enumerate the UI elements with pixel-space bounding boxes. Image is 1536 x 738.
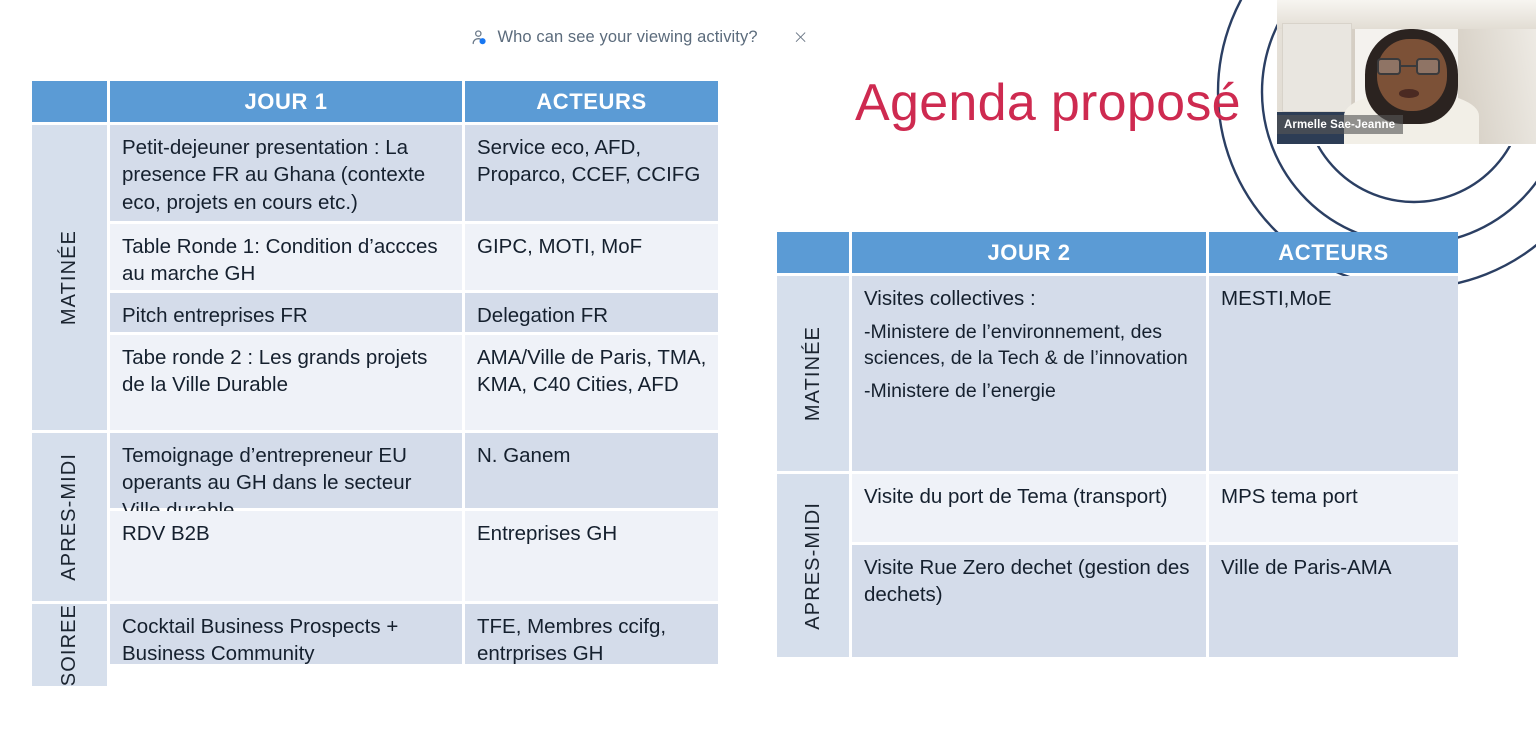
table-row: Cocktail Business Prospects + Business C… — [110, 604, 718, 664]
daypart-label: MATINÉE — [777, 276, 849, 471]
cell-activity: Temoignage d’entrepreneur EU operants au… — [110, 433, 462, 508]
glasses-left-lens — [1377, 58, 1402, 75]
table-header-jour 1: JOUR 1 — [110, 81, 462, 122]
daypart-label: APRES-MIDI — [777, 474, 849, 657]
table-row: Visite du port de Tema (transport)MPS te… — [852, 474, 1458, 542]
viewing-activity-notification: Who can see your viewing activity? × — [0, 0, 1280, 74]
table-row: Tabe ronde 2 : Les grands projets de la … — [110, 335, 718, 430]
agenda-table-jour2: JOUR 2ACTEURSMATINÉEVisites collectives … — [777, 232, 1458, 660]
activity-text: RDV B2B — [122, 520, 451, 547]
cell-activity: Visite Rue Zero dechet (gestion des dech… — [852, 545, 1206, 657]
table-row: Temoignage d’entrepreneur EU operants au… — [110, 433, 718, 508]
cell-activity: Petit-dejeuner presentation : La presenc… — [110, 125, 462, 221]
glasses-right-lens — [1416, 58, 1441, 75]
daypart-label: APRES-MIDI — [32, 433, 107, 601]
table-header-row: JOUR 1ACTEURS — [32, 81, 718, 122]
cell-actors: N. Ganem — [465, 433, 718, 508]
cell-actors: Delegation FR — [465, 293, 718, 332]
table-header-acteurs: ACTEURS — [1209, 232, 1458, 273]
activity-text: Table Ronde 1: Condition d’accces au mar… — [122, 233, 451, 288]
cell-actors: MPS tema port — [1209, 474, 1458, 542]
cell-actors: TFE, Membres ccifg, entrprises GH — [465, 604, 718, 664]
table-row: Visites collectives :-Ministere de l’env… — [852, 276, 1458, 471]
actors-text: N. Ganem — [477, 442, 707, 469]
activity-text: Cocktail Business Prospects + Business C… — [122, 613, 451, 668]
cell-activity: Table Ronde 1: Condition d’accces au mar… — [110, 224, 462, 290]
person-privacy-icon — [471, 29, 488, 46]
actors-text: GIPC, MOTI, MoF — [477, 233, 707, 260]
activity-subline: -Ministere de l’environnement, des scien… — [864, 319, 1195, 371]
activity-text: Tabe ronde 2 : Les grands projets de la … — [122, 344, 451, 399]
daypart-rows: Temoignage d’entrepreneur EU operants au… — [110, 433, 718, 601]
table-row: Visite Rue Zero dechet (gestion des dech… — [852, 545, 1458, 657]
daypart-label-text: MATINÉE — [802, 326, 825, 421]
participant-face — [1377, 39, 1447, 111]
daypart-label-text: APRES-MIDI — [802, 502, 825, 630]
daypart-label-text: APRES-MIDI — [58, 453, 81, 581]
table-header-jour 2: JOUR 2 — [852, 232, 1206, 273]
cell-activity: Cocktail Business Prospects + Business C… — [110, 604, 462, 664]
table-row: Petit-dejeuner presentation : La presenc… — [110, 125, 718, 221]
agenda-table-jour1: JOUR 1ACTEURSMATINÉEPetit-dejeuner prese… — [32, 81, 718, 689]
actors-text: Ville de Paris-AMA — [1221, 554, 1447, 581]
table-header-acteurs: ACTEURS — [465, 81, 718, 122]
glasses-bridge — [1401, 65, 1415, 67]
participant-name-label: Armelle Sae-Jeanne — [1277, 115, 1403, 134]
cell-activity: Visites collectives :-Ministere de l’env… — [852, 276, 1206, 471]
daypart-group: MATINÉEVisites collectives :-Ministere d… — [777, 276, 1458, 471]
daypart-group: SOIREECocktail Business Prospects + Busi… — [32, 604, 718, 686]
actors-text: TFE, Membres ccifg, entrprises GH — [477, 613, 707, 668]
cell-activity: Pitch entreprises FR — [110, 293, 462, 332]
actors-text: Delegation FR — [477, 302, 707, 329]
cell-actors: Ville de Paris-AMA — [1209, 545, 1458, 657]
cell-activity: Visite du port de Tema (transport) — [852, 474, 1206, 542]
actors-text: Service eco, AFD, Proparco, CCEF, CCIFG — [477, 134, 707, 189]
cell-actors: MESTI,MoE — [1209, 276, 1458, 471]
activity-text: Visite Rue Zero dechet (gestion des dech… — [864, 554, 1195, 609]
activity-text: Visite du port de Tema (transport) — [864, 483, 1195, 510]
activity-text: Visites collectives : — [864, 285, 1195, 312]
close-icon[interactable]: × — [793, 28, 809, 47]
activity-subline: -Ministere de l’energie — [864, 378, 1195, 404]
video-background-screen — [1282, 23, 1352, 112]
table-header-corner — [32, 81, 107, 122]
slide-viewer: Who can see your viewing activity? × Arm… — [0, 0, 1536, 738]
daypart-rows: Cocktail Business Prospects + Business C… — [110, 604, 718, 686]
daypart-label-text: SOIREE — [58, 604, 81, 686]
daypart-label: SOIREE — [32, 604, 107, 686]
cell-actors: AMA/Ville de Paris, TMA, KMA, C40 Cities… — [465, 335, 718, 430]
actors-text: Entreprises GH — [477, 520, 707, 547]
actors-text: AMA/Ville de Paris, TMA, KMA, C40 Cities… — [477, 344, 707, 399]
participant-video-tile[interactable]: Armelle Sae-Jeanne — [1277, 0, 1536, 146]
slide-title: Agenda proposé — [855, 73, 1241, 133]
cell-actors: GIPC, MOTI, MoF — [465, 224, 718, 290]
table-row: RDV B2BEntreprises GH — [110, 511, 718, 601]
activity-text: Petit-dejeuner presentation : La presenc… — [122, 134, 451, 216]
daypart-rows: Visite du port de Tema (transport)MPS te… — [852, 474, 1458, 657]
daypart-group: APRES-MIDITemoignage d’entrepreneur EU o… — [32, 433, 718, 601]
daypart-rows: Petit-dejeuner presentation : La presenc… — [110, 125, 718, 430]
daypart-group: MATINÉEPetit-dejeuner presentation : La … — [32, 125, 718, 430]
table-row: Table Ronde 1: Condition d’accces au mar… — [110, 224, 718, 290]
table-header-corner — [777, 232, 849, 273]
daypart-label-text: MATINÉE — [58, 230, 81, 325]
table-row: Pitch entreprises FRDelegation FR — [110, 293, 718, 332]
cell-actors: Entreprises GH — [465, 511, 718, 601]
cell-activity: RDV B2B — [110, 511, 462, 601]
activity-text: Pitch entreprises FR — [122, 302, 451, 329]
notification-text: Who can see your viewing activity? — [497, 28, 757, 47]
table-header-row: JOUR 2ACTEURS — [777, 232, 1458, 273]
actors-text: MPS tema port — [1221, 483, 1447, 510]
cell-actors: Service eco, AFD, Proparco, CCEF, CCIFG — [465, 125, 718, 221]
cell-activity: Tabe ronde 2 : Les grands projets de la … — [110, 335, 462, 430]
participant-mouth — [1399, 89, 1420, 98]
actors-text: MESTI,MoE — [1221, 285, 1447, 312]
daypart-rows: Visites collectives :-Ministere de l’env… — [852, 276, 1458, 471]
daypart-label: MATINÉE — [32, 125, 107, 430]
daypart-group: APRES-MIDIVisite du port de Tema (transp… — [777, 474, 1458, 657]
